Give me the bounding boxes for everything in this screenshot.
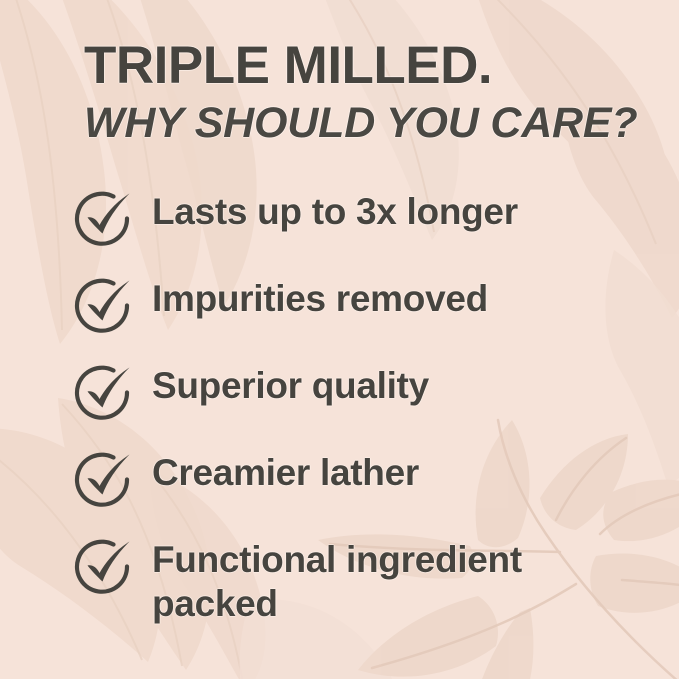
list-item-label: Lasts up to 3x longer	[152, 186, 518, 234]
list-item: Impurities removed	[72, 273, 639, 360]
list-item: Superior quality	[72, 360, 639, 447]
list-item: Creamier lather	[72, 447, 639, 534]
list-item-label: Functional ingredient packed	[152, 534, 582, 626]
circle-check-icon	[72, 275, 138, 337]
circle-check-icon	[72, 362, 138, 424]
list-item-label: Creamier lather	[152, 447, 419, 495]
circle-check-icon	[72, 536, 138, 598]
list-item: Functional ingredient packed	[72, 534, 639, 621]
list-item: Lasts up to 3x longer	[72, 186, 639, 273]
circle-check-icon	[72, 449, 138, 511]
benefits-list: Lasts up to 3x longer Impurities removed	[72, 186, 639, 621]
circle-check-icon	[72, 188, 138, 250]
infographic-poster: TRIPLE MILLED. WHY SHOULD YOU CARE? Last…	[0, 0, 679, 679]
list-item-label: Impurities removed	[152, 273, 488, 321]
list-item-label: Superior quality	[152, 360, 429, 408]
page-subtitle: WHY SHOULD YOU CARE?	[84, 100, 637, 146]
heading-block: TRIPLE MILLED. WHY SHOULD YOU CARE?	[84, 38, 637, 146]
poster-content: TRIPLE MILLED. WHY SHOULD YOU CARE? Last…	[0, 0, 679, 679]
page-title: TRIPLE MILLED.	[84, 38, 637, 94]
